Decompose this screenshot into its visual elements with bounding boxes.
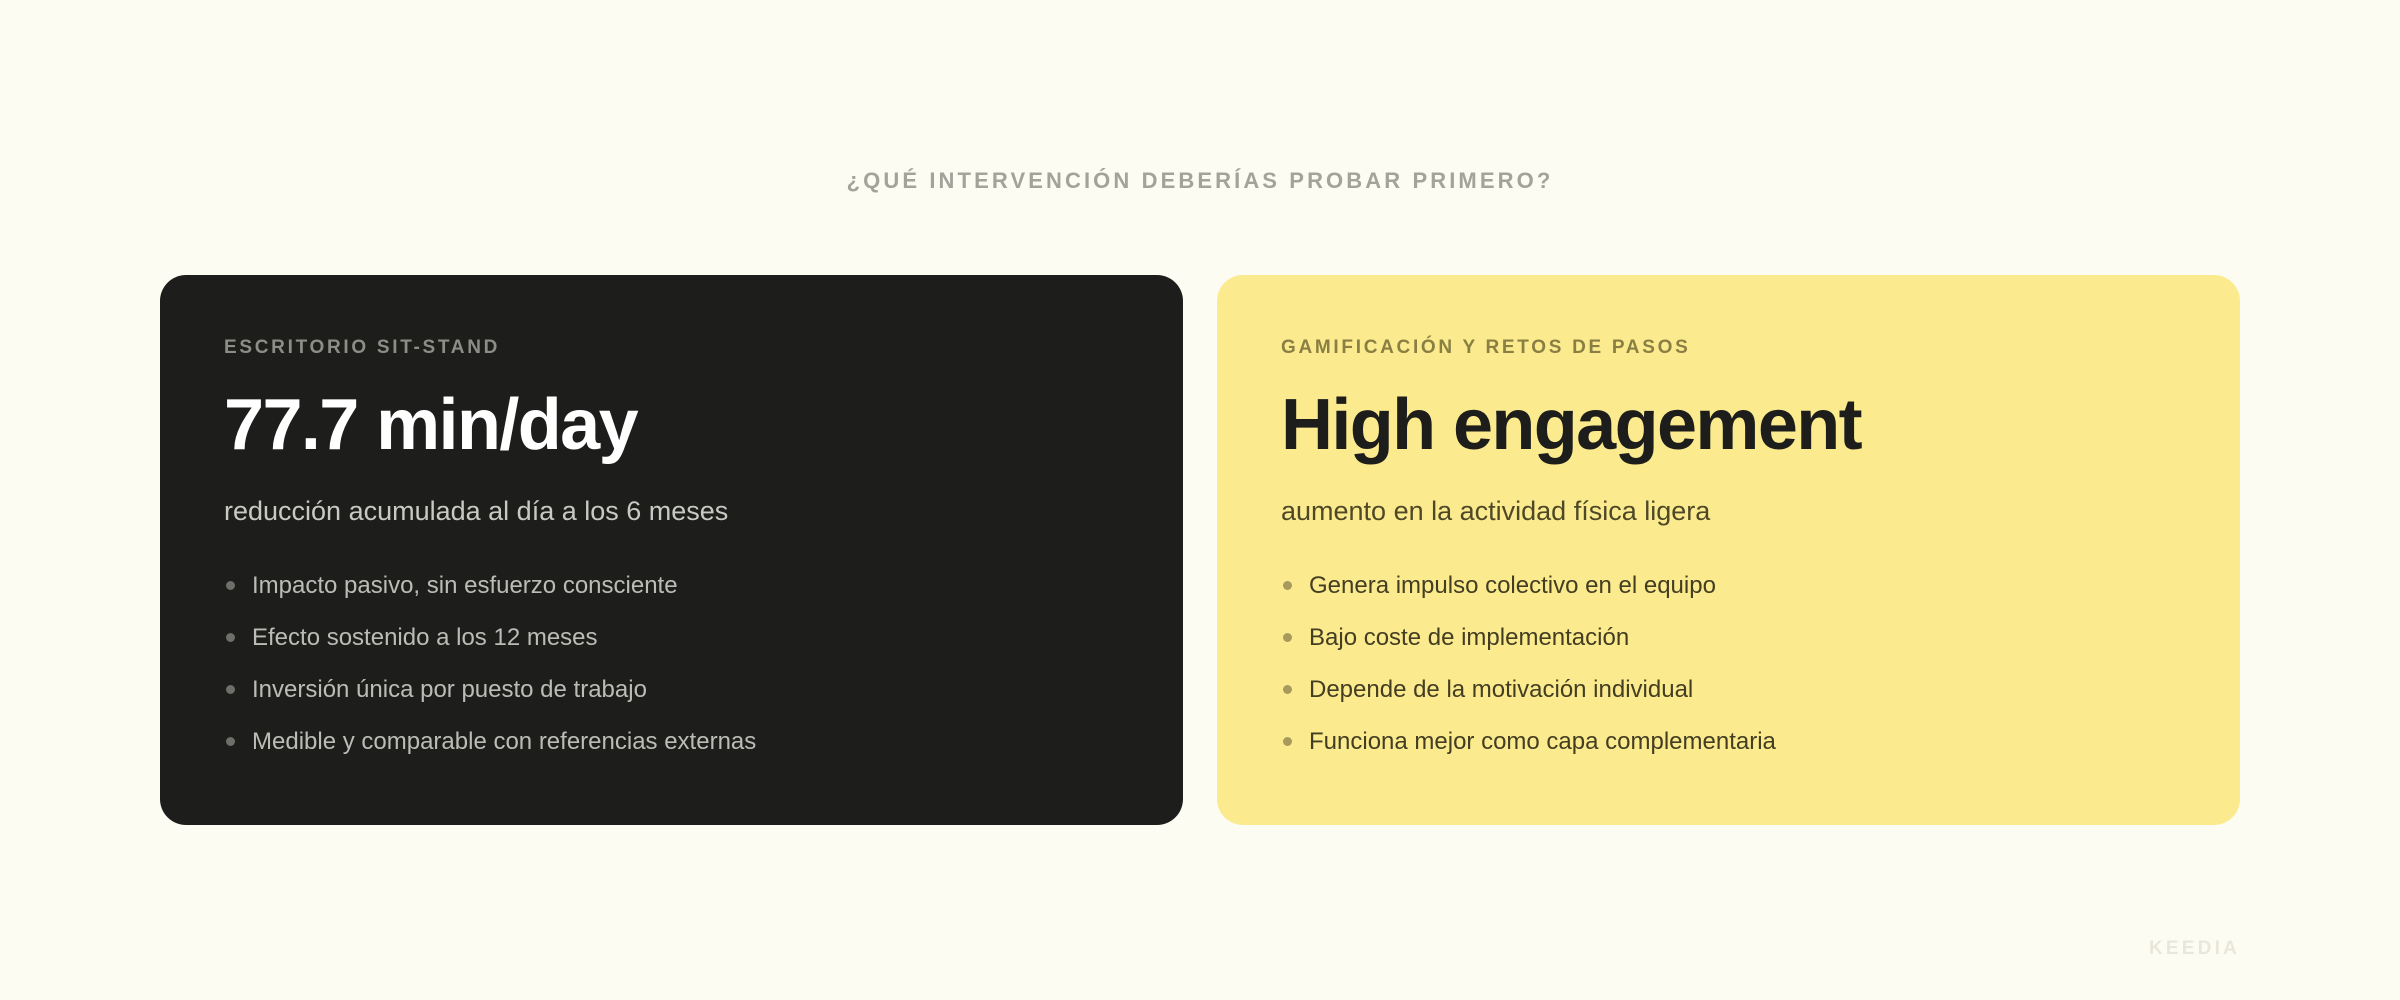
list-item: Efecto sostenido a los 12 meses: [224, 623, 1119, 653]
slide-root: ¿QUÉ INTERVENCIÓN DEBERÍAS PROBAR PRIMER…: [0, 0, 2400, 1000]
section-question: ¿QUÉ INTERVENCIÓN DEBERÍAS PROBAR PRIMER…: [0, 168, 2400, 194]
list-item-label: Genera impulso colectivo en el equipo: [1309, 572, 1716, 599]
list-item-label: Inversión única por puesto de trabajo: [252, 676, 647, 703]
list-item-label: Efecto sostenido a los 12 meses: [252, 624, 598, 651]
list-item-label: Impacto pasivo, sin esfuerzo consciente: [252, 572, 678, 599]
bullet-dot-icon: [226, 581, 235, 590]
list-item: Impacto pasivo, sin esfuerzo consciente: [224, 571, 1119, 601]
list-item: Medible y comparable con referencias ext…: [224, 727, 1119, 757]
footer-watermark: KEEDIA: [2149, 938, 2240, 960]
card-escritorio-sit-stand[interactable]: ESCRITORIO SIT-STAND 77.7 min/day reducc…: [160, 275, 1183, 825]
list-item: Inversión única por puesto de trabajo: [224, 675, 1119, 705]
list-item: Genera impulso colectivo en el equipo: [1281, 571, 2176, 601]
list-item-label: Funciona mejor como capa complementaria: [1309, 728, 1776, 755]
comparison-cards: ESCRITORIO SIT-STAND 77.7 min/day reducc…: [160, 275, 2240, 825]
card-subtitle: aumento en la actividad física ligera: [1281, 495, 2176, 529]
card-headline: 77.7 min/day: [224, 389, 1119, 461]
bullet-dot-icon: [226, 685, 235, 694]
list-item-label: Depende de la motivación individual: [1309, 676, 1693, 703]
card-headline: High engagement: [1281, 389, 2176, 461]
list-item-label: Medible y comparable con referencias ext…: [252, 728, 756, 755]
card-points-list: Genera impulso colectivo en el equipo Ba…: [1281, 571, 2176, 757]
card-points-list: Impacto pasivo, sin esfuerzo consciente …: [224, 571, 1119, 757]
bullet-dot-icon: [1283, 581, 1292, 590]
bullet-dot-icon: [226, 633, 235, 642]
bullet-dot-icon: [1283, 633, 1292, 642]
list-item: Funciona mejor como capa complementaria: [1281, 727, 2176, 757]
list-item: Bajo coste de implementación: [1281, 623, 2176, 653]
card-eyebrow: GAMIFICACIÓN Y RETOS DE PASOS: [1281, 337, 2176, 359]
bullet-dot-icon: [226, 737, 235, 746]
card-gamificacion-retos-pasos[interactable]: GAMIFICACIÓN Y RETOS DE PASOS High engag…: [1217, 275, 2240, 825]
list-item: Depende de la motivación individual: [1281, 675, 2176, 705]
bullet-dot-icon: [1283, 685, 1292, 694]
list-item-label: Bajo coste de implementación: [1309, 624, 1629, 651]
card-eyebrow: ESCRITORIO SIT-STAND: [224, 337, 1119, 359]
card-subtitle: reducción acumulada al día a los 6 meses: [224, 495, 1119, 529]
bullet-dot-icon: [1283, 737, 1292, 746]
